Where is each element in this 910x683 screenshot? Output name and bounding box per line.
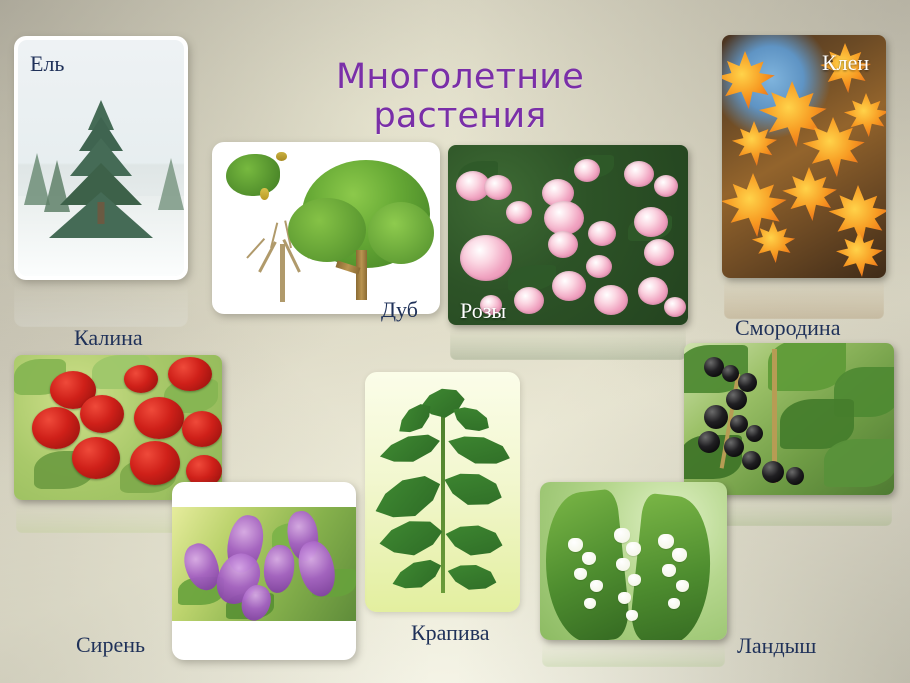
label-maple: Клен [822, 50, 869, 76]
card-lilac[interactable] [172, 482, 356, 660]
viburnum-berries-photo [14, 355, 222, 500]
card-lily[interactable] [540, 482, 727, 640]
lily-reflection [542, 641, 725, 667]
lily-of-the-valley-photo [540, 482, 727, 640]
label-nettle: Крапива [411, 620, 490, 646]
label-currant: Смородина [735, 315, 840, 341]
spruce-reflection [14, 281, 188, 327]
roses-reflection [450, 326, 686, 360]
page-title: Многолетние растения [250, 58, 670, 135]
oak-tree-photo [216, 146, 436, 310]
label-spruce: Ель [30, 51, 64, 77]
label-lilac: Сирень [76, 632, 145, 658]
lilac-photo [172, 507, 356, 621]
card-currant[interactable] [684, 343, 894, 495]
label-oak: Дуб [381, 297, 418, 323]
label-roses: Розы [460, 298, 506, 324]
nettle-plant-photo [365, 372, 520, 612]
card-viburnum[interactable] [14, 355, 222, 500]
label-viburnum: Калина [74, 325, 143, 351]
maple-reflection [724, 279, 884, 319]
card-nettle[interactable] [365, 372, 520, 612]
label-lily: Ландыш [737, 633, 816, 659]
slide-canvas: Многолетние растения Ель [0, 0, 910, 683]
card-oak[interactable] [212, 142, 440, 314]
blackcurrant-photo [684, 343, 894, 495]
